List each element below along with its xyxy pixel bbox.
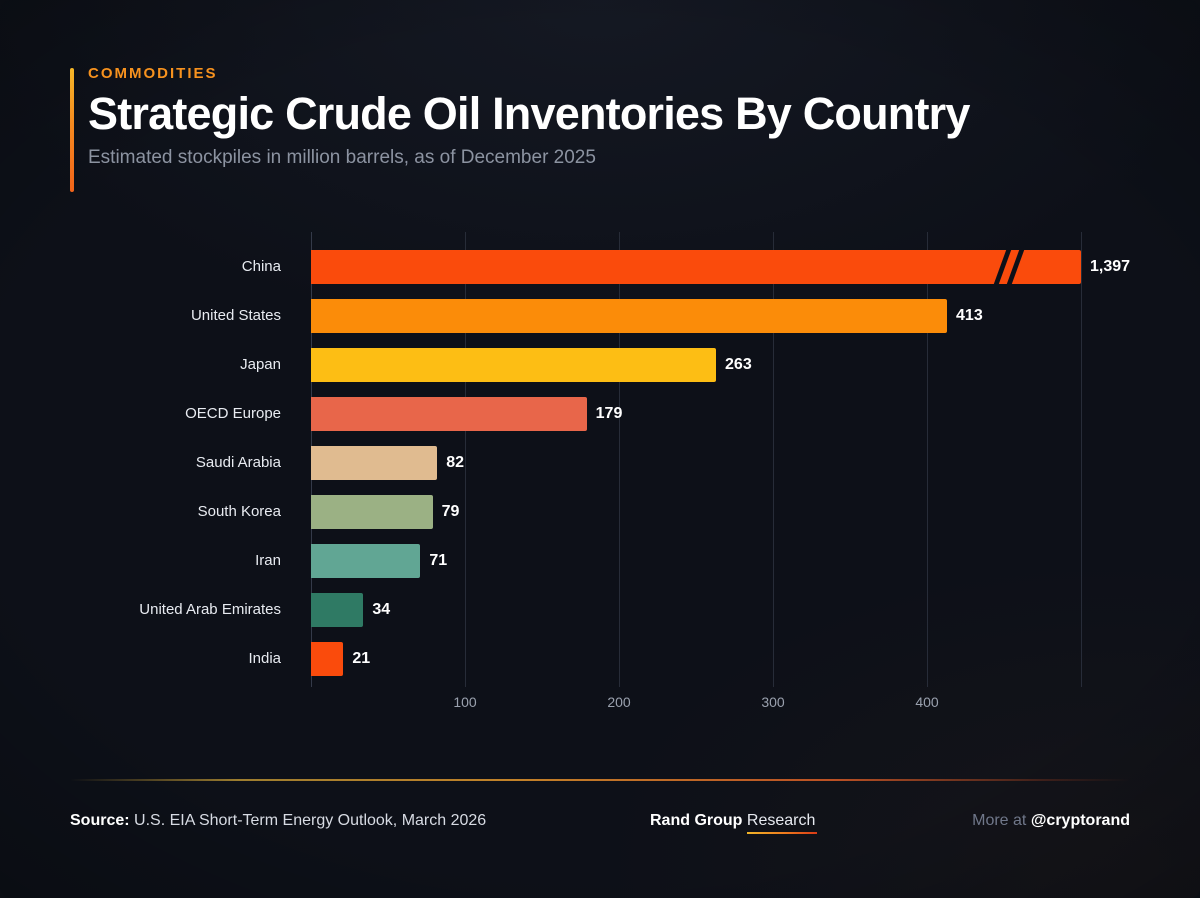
bar-category-label: Iran bbox=[0, 544, 281, 578]
category-eyebrow: COMMODITIES bbox=[88, 66, 1100, 83]
bar-value-label: 413 bbox=[956, 299, 983, 333]
bar-row[interactable]: Iran71 bbox=[0, 544, 1200, 578]
page-subtitle: Estimated stockpiles in million barrels,… bbox=[88, 147, 1100, 170]
bar-japan[interactable] bbox=[311, 348, 716, 382]
attribution: More at @cryptorand bbox=[972, 806, 1130, 836]
bar-south-korea[interactable] bbox=[311, 495, 433, 529]
x-axis: 100200300400 bbox=[311, 694, 1101, 720]
bar-saudi-arabia[interactable] bbox=[311, 446, 437, 480]
bar-row[interactable]: Japan263 bbox=[0, 348, 1200, 382]
bar-row[interactable]: Saudi Arabia82 bbox=[0, 446, 1200, 480]
bar-value-label: 71 bbox=[429, 544, 447, 578]
bar-category-label: India bbox=[0, 642, 281, 676]
bar-china[interactable] bbox=[311, 250, 1081, 284]
x-tick-label: 200 bbox=[607, 694, 630, 710]
bar-united-arab-emirates[interactable] bbox=[311, 593, 363, 627]
bar-oecd-europe[interactable] bbox=[311, 397, 587, 431]
attribution-handle[interactable]: @cryptorand bbox=[1031, 812, 1130, 829]
bar-value-label: 1,397 bbox=[1090, 250, 1130, 284]
bar-iran[interactable] bbox=[311, 544, 420, 578]
bar-category-label: United States bbox=[0, 299, 281, 333]
bar-value-label: 34 bbox=[372, 593, 390, 627]
bar-category-label: Saudi Arabia bbox=[0, 446, 281, 480]
bar-category-label: Japan bbox=[0, 348, 281, 382]
bar-value-label: 79 bbox=[442, 495, 460, 529]
source-text: U.S. EIA Short-Term Energy Outlook, Marc… bbox=[134, 812, 486, 829]
footer: Source: U.S. EIA Short-Term Energy Outlo… bbox=[70, 806, 1130, 838]
attribution-prefix: More at bbox=[972, 812, 1026, 829]
header-text: COMMODITIES Strategic Crude Oil Inventor… bbox=[70, 66, 1100, 170]
brand-primary: Rand Group bbox=[650, 812, 742, 829]
bar-value-label: 179 bbox=[596, 397, 623, 431]
bar-row[interactable]: India21 bbox=[0, 642, 1200, 676]
bar-category-label: United Arab Emirates bbox=[0, 593, 281, 627]
bar-category-label: China bbox=[0, 250, 281, 284]
accent-rule bbox=[70, 68, 74, 192]
bar-row[interactable]: China1,397 bbox=[0, 250, 1200, 284]
bar-value-label: 263 bbox=[725, 348, 752, 382]
bar-row[interactable]: OECD Europe179 bbox=[0, 397, 1200, 431]
bar-india[interactable] bbox=[311, 642, 343, 676]
bar-row[interactable]: South Korea79 bbox=[0, 495, 1200, 529]
bar-value-label: 82 bbox=[446, 446, 464, 480]
page-title: Strategic Crude Oil Inventories By Count… bbox=[88, 89, 1100, 139]
infographic-canvas: COMMODITIES Strategic Crude Oil Inventor… bbox=[0, 0, 1200, 898]
x-tick-label: 400 bbox=[915, 694, 938, 710]
header: COMMODITIES Strategic Crude Oil Inventor… bbox=[70, 66, 1100, 170]
bar-united-states[interactable] bbox=[311, 299, 947, 333]
source-note: Source: U.S. EIA Short-Term Energy Outlo… bbox=[70, 806, 486, 836]
brand-secondary: Research bbox=[747, 812, 815, 831]
source-label: Source: bbox=[70, 812, 130, 829]
brand-watermark: Rand Group Research bbox=[650, 806, 815, 836]
bar-category-label: South Korea bbox=[0, 495, 281, 529]
bar-category-label: OECD Europe bbox=[0, 397, 281, 431]
footer-divider bbox=[70, 779, 1130, 781]
bar-row[interactable]: United Arab Emirates34 bbox=[0, 593, 1200, 627]
x-tick-label: 100 bbox=[453, 694, 476, 710]
bar-row[interactable]: United States413 bbox=[0, 299, 1200, 333]
x-tick-label: 300 bbox=[761, 694, 784, 710]
bar-value-label: 21 bbox=[352, 642, 370, 676]
bar-chart: China1,397United States413Japan263OECD E… bbox=[0, 232, 1200, 732]
